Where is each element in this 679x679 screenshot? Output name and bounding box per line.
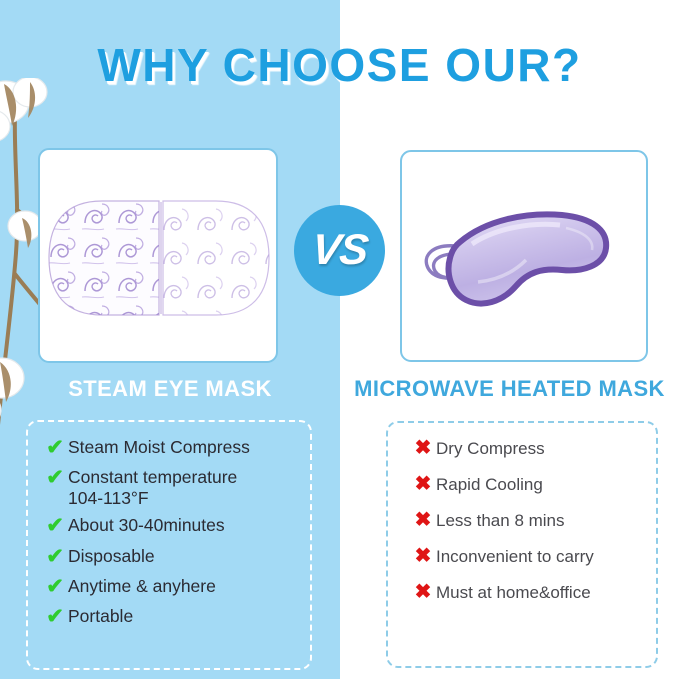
vs-badge: VS [294,205,385,296]
list-item-label: Constant temperature 104-113°F [68,466,237,508]
page-title: WHY CHOOSE OUR? [0,38,679,92]
right-feature-list: ✖ Dry Compress ✖ Rapid Cooling ✖ Less th… [386,421,658,668]
list-item-label: Rapid Cooling [436,473,543,495]
list-item-label: Portable [68,605,133,627]
list-item: ✖ Less than 8 mins [388,509,656,532]
list-item: ✖ Must at home&office [388,581,656,604]
list-item: ✔ Steam Moist Compress [28,436,310,460]
list-item: ✔ Disposable [28,545,310,569]
list-item-label: Disposable [68,545,155,567]
check-icon: ✔ [42,605,68,629]
list-item: ✖ Rapid Cooling [388,473,656,496]
list-item-label: Inconvenient to carry [436,545,594,567]
check-icon: ✔ [42,514,68,538]
list-item: ✖ Inconvenient to carry [388,545,656,568]
microwave-heated-mask-image [416,184,636,334]
check-icon: ✔ [42,466,68,490]
list-item: ✔ Constant temperature 104-113°F [28,466,310,508]
list-item: ✔ About 30-40minutes [28,514,310,538]
right-product-card [400,150,648,362]
list-item-label: Steam Moist Compress [68,436,250,458]
left-feature-list: ✔ Steam Moist Compress ✔ Constant temper… [26,420,312,670]
left-column-heading: STEAM EYE MASK [0,376,340,402]
check-icon: ✔ [42,436,68,460]
steam-eye-mask-image [46,198,272,318]
cross-icon: ✖ [410,437,436,460]
list-item: ✔ Anytime & anyhere [28,575,310,599]
check-icon: ✔ [42,545,68,569]
vs-label: VS [310,229,370,272]
cross-icon: ✖ [410,545,436,568]
right-column-heading: MICROWAVE HEATED MASK [337,376,679,402]
cross-icon: ✖ [410,509,436,532]
list-item-label: About 30-40minutes [68,514,225,536]
list-item: ✖ Dry Compress [388,437,656,460]
list-item-label-line1: Constant temperature [68,467,237,487]
list-item-label-line2: 104-113°F [68,488,237,509]
left-product-card [38,148,278,363]
list-item-label: Must at home&office [436,581,591,603]
cross-icon: ✖ [410,473,436,496]
infographic-canvas: WHY CHOOSE OUR? [0,0,679,679]
list-item: ✔ Portable [28,605,310,629]
check-icon: ✔ [42,575,68,599]
list-item-label: Dry Compress [436,437,545,459]
cross-icon: ✖ [410,581,436,604]
list-item-label: Less than 8 mins [436,509,565,531]
list-item-label: Anytime & anyhere [68,575,216,597]
